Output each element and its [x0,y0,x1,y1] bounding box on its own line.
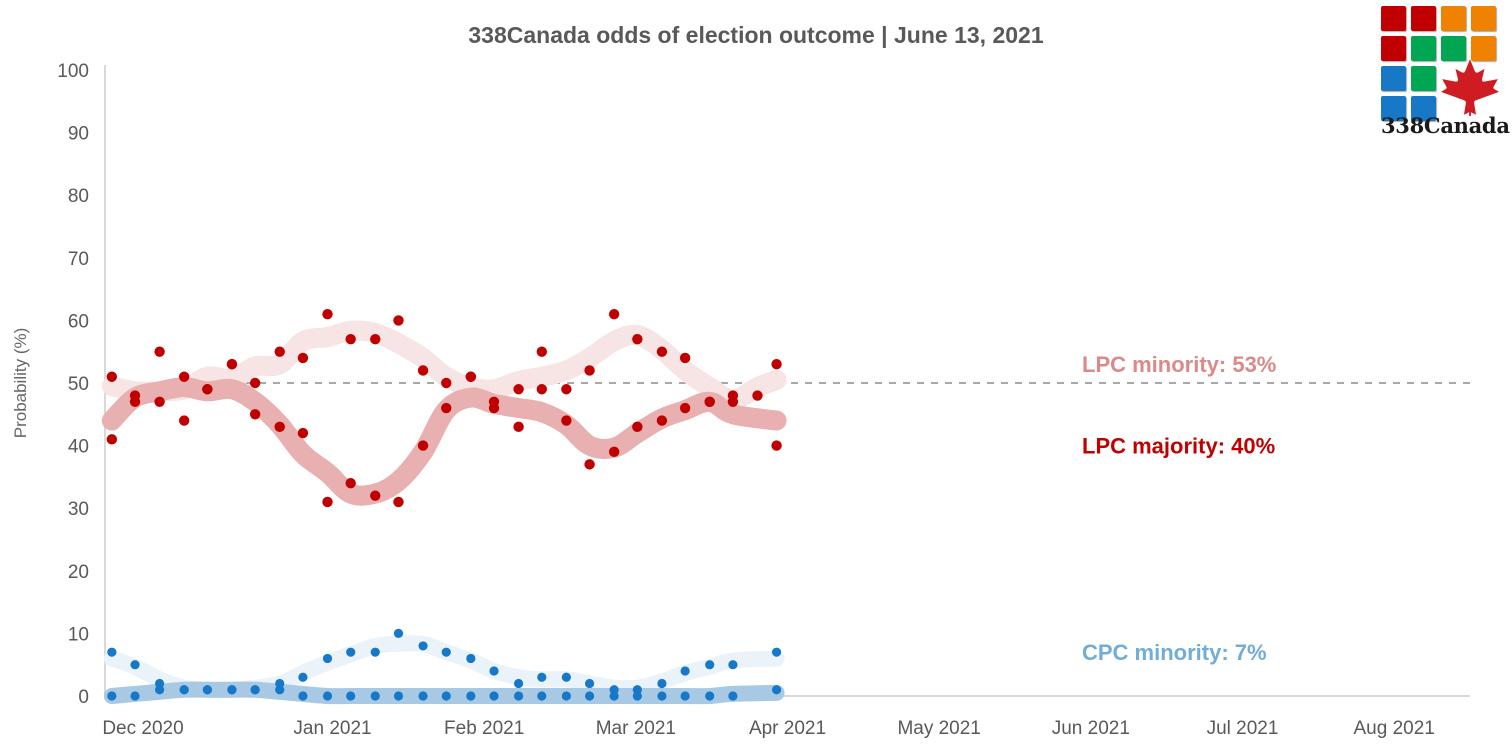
data-point [609,447,619,457]
data-point [323,691,332,700]
data-point [610,691,619,700]
data-point [771,440,781,450]
data-point [657,679,666,688]
data-point [130,691,139,700]
data-point [442,691,451,700]
data-point [371,691,380,700]
data-point [728,660,737,669]
data-point [179,415,189,425]
data-point [370,334,380,344]
y-tick-label: 100 [57,61,89,82]
data-point [728,691,737,700]
data-point [298,353,308,363]
data-point [771,359,781,369]
probability-chart: 0102030405060708090100Probability (%)Dec… [0,0,1512,756]
data-point [514,679,523,688]
data-point [562,691,571,700]
x-tick-label: Jul 2021 [1207,718,1279,739]
data-point [772,648,781,657]
data-point [394,691,403,700]
y-tick-label: 30 [68,499,89,520]
data-point [681,666,690,675]
data-point [203,685,212,694]
data-point [275,422,285,432]
data-point [537,673,546,682]
data-point [107,434,117,444]
data-point [705,660,714,669]
data-point [323,654,332,663]
y-tick-label: 10 [68,624,89,645]
data-point [322,309,332,319]
data-point [180,685,189,694]
y-axis-title: Probability (%) [11,328,30,439]
data-point [609,309,619,319]
data-point [393,497,403,507]
data-point [442,648,451,657]
data-point [130,397,140,407]
y-tick-label: 20 [68,562,89,583]
data-point [393,315,403,325]
data-point [298,673,307,682]
data-point [202,384,212,394]
data-point [772,685,781,694]
data-point [466,654,475,663]
data-point [752,390,762,400]
data-point [705,691,714,700]
data-point [371,648,380,657]
data-point [681,691,690,700]
data-point [489,666,498,675]
data-point [250,378,260,388]
data-point [155,685,164,694]
x-tick-label: Apr 2021 [749,718,826,739]
data-point [154,347,164,357]
data-point [418,440,428,450]
data-point [441,403,451,413]
data-point [489,403,499,413]
data-point [298,691,307,700]
x-tick-label: Mar 2021 [596,718,676,739]
data-point [322,497,332,507]
x-tick-label: Dec 2020 [102,718,183,739]
y-tick-label: 0 [78,687,89,708]
data-point [584,459,594,469]
data-point [561,384,571,394]
data-point [251,685,260,694]
data-point [346,648,355,657]
data-point [466,691,475,700]
data-point [489,691,498,700]
y-tick-label: 50 [68,374,89,395]
data-point [584,365,594,375]
data-point [705,397,715,407]
data-point [179,372,189,382]
data-point [130,660,139,669]
data-point [394,629,403,638]
data-point [633,691,642,700]
cpc-minority-label: CPC minority: 7% [1082,640,1267,665]
data-point [561,415,571,425]
data-point [513,422,523,432]
y-tick-label: 60 [68,311,89,332]
data-point [728,390,738,400]
y-tick-label: 80 [68,186,89,207]
data-point [275,347,285,357]
data-point [632,334,642,344]
data-point [154,397,164,407]
data-point [107,648,116,657]
data-point [250,409,260,419]
data-point [298,428,308,438]
data-point [227,359,237,369]
data-point [418,641,427,650]
y-tick-label: 90 [68,124,89,145]
data-point [346,478,356,488]
y-tick-label: 40 [68,437,89,458]
y-tick-label: 70 [68,249,89,270]
data-point [346,691,355,700]
data-point [370,490,380,500]
data-point [657,347,667,357]
x-tick-label: Jun 2021 [1052,718,1130,739]
data-point [418,365,428,375]
data-point [513,384,523,394]
data-point [680,403,690,413]
data-point [227,685,236,694]
data-point [585,691,594,700]
lpc-minority-label: LPC minority: 53% [1082,352,1276,377]
x-tick-label: Aug 2021 [1353,718,1434,739]
data-point [537,384,547,394]
data-point [657,691,666,700]
data-point [514,691,523,700]
data-point [107,691,116,700]
data-point [346,334,356,344]
data-point [680,353,690,363]
data-point [107,372,117,382]
x-tick-label: May 2021 [897,718,980,739]
x-tick-label: Jan 2021 [293,718,371,739]
data-point [562,673,571,682]
data-point [466,372,476,382]
data-point [537,691,546,700]
data-point [585,679,594,688]
chart-page: 338Canada odds of election outcome | Jun… [0,0,1512,756]
x-tick-label: Feb 2021 [444,718,524,739]
data-point [441,378,451,388]
data-point [275,685,284,694]
data-point [657,415,667,425]
data-point [632,422,642,432]
data-point [537,347,547,357]
lpc-majority-label: LPC majority: 40% [1082,434,1275,459]
data-point [418,691,427,700]
